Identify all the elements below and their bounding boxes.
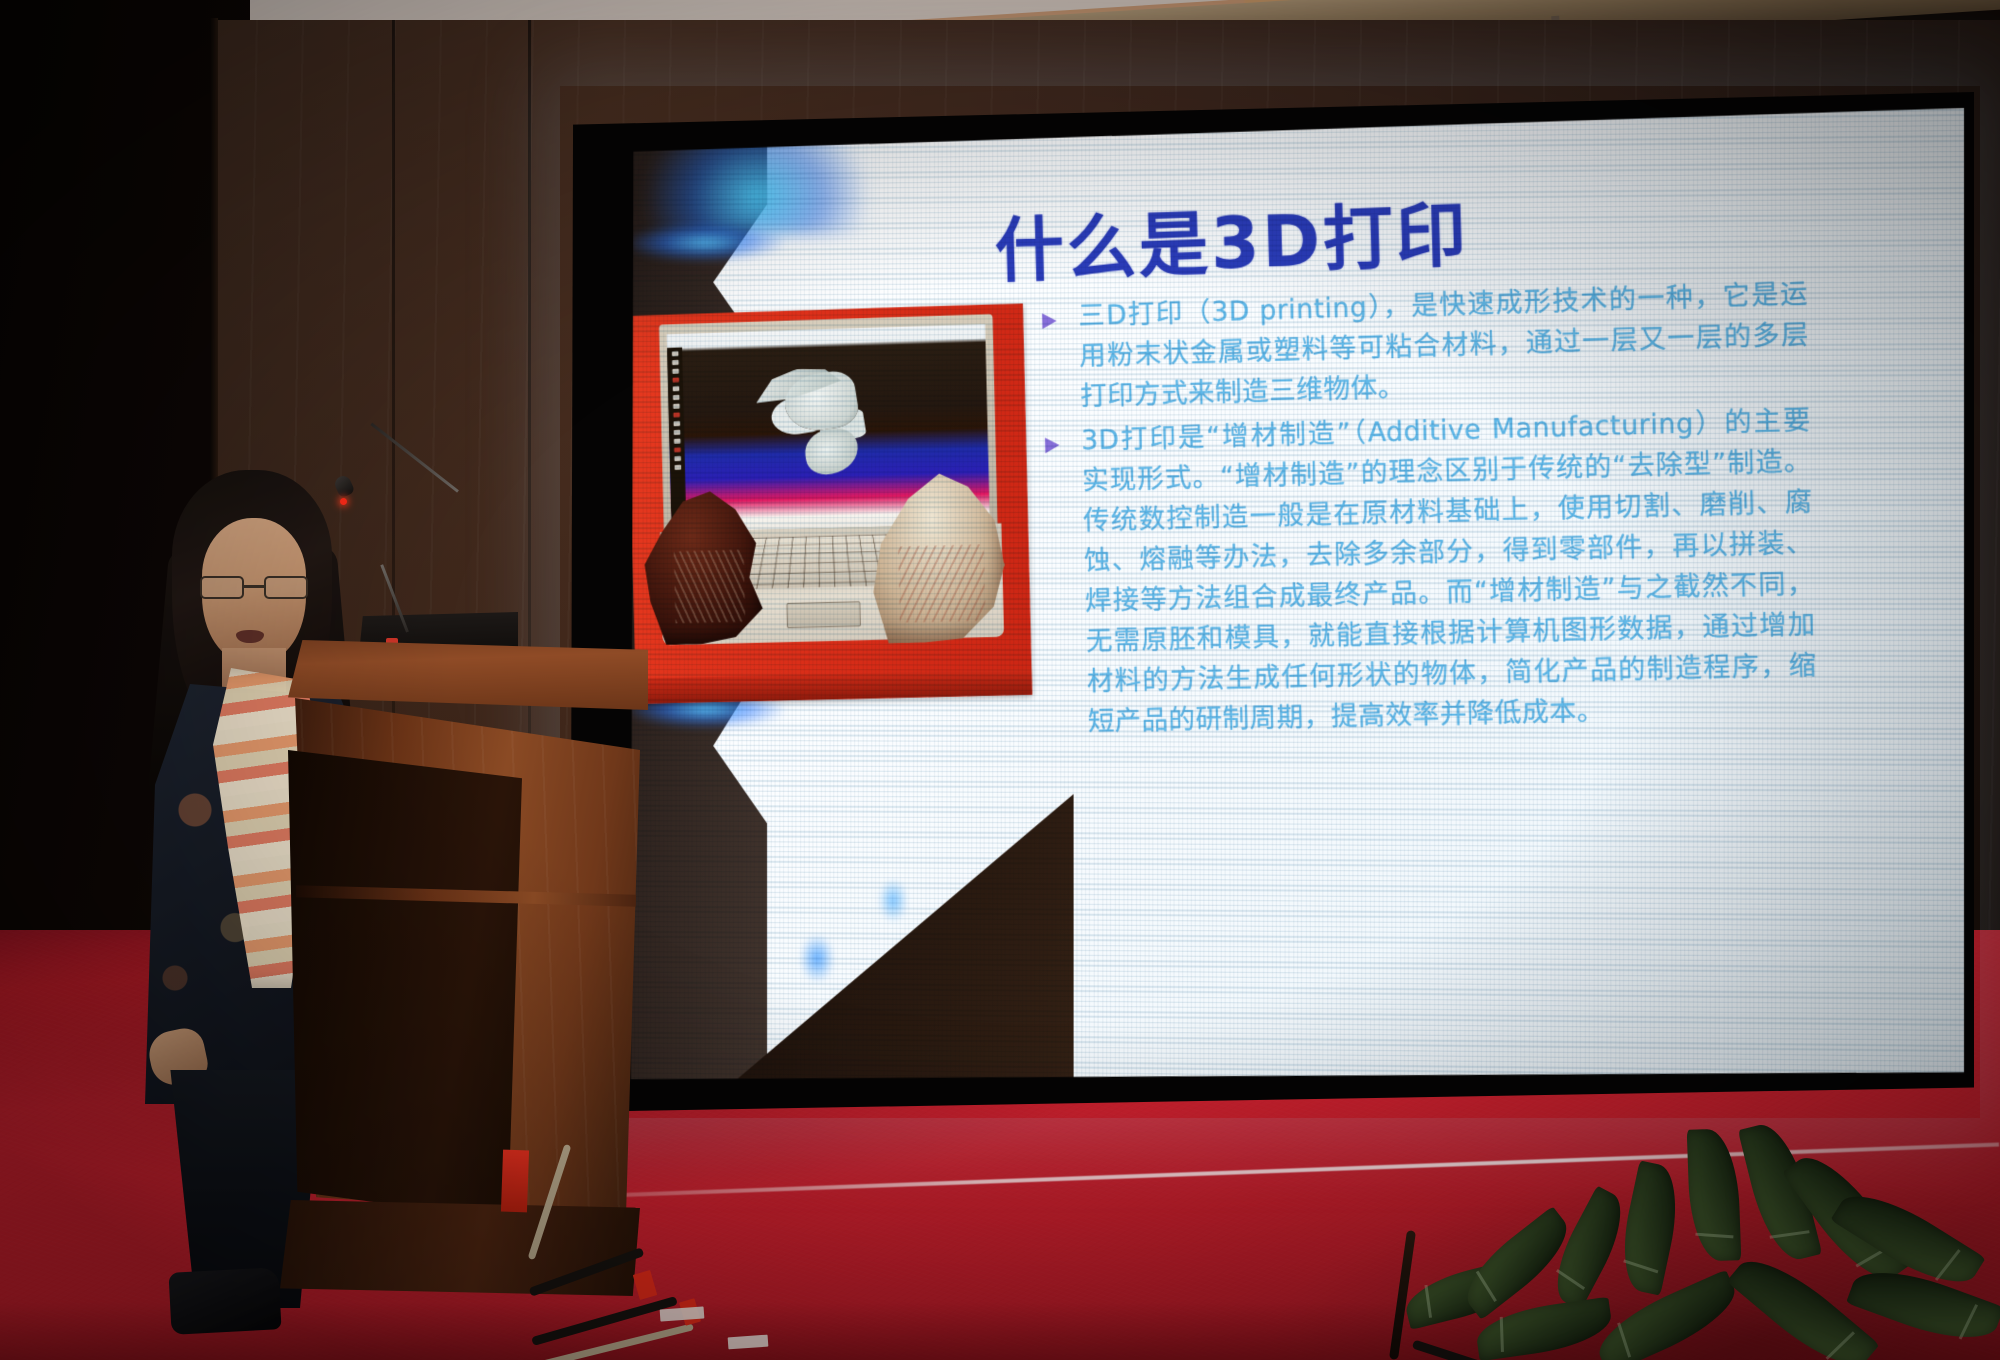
arrow-bullet-icon — [1045, 437, 1060, 453]
potted-plants — [1380, 1130, 2000, 1360]
software-toolbar — [667, 348, 686, 519]
arrow-bullet-icon — [1042, 313, 1057, 329]
red-tape-marker — [501, 1150, 529, 1213]
list-item: 3D打印是“增材制造”（Additive Manufacturing）的主要实现… — [1041, 400, 1818, 743]
presentation-scene: 什么是3D打印 — [0, 0, 2000, 1360]
glasses-bridge — [244, 585, 266, 588]
leaf — [1589, 1270, 1746, 1360]
microphone-led-indicator — [340, 498, 347, 505]
slide-bullet-list: 三D打印（3D printing），是快速成形技术的一种，它是运用粉末状金属或塑… — [1038, 274, 1818, 747]
lens-right — [264, 576, 308, 599]
slide-photo — [627, 303, 1032, 703]
dinosaur-skull-model — [749, 353, 893, 501]
plant-stem — [1389, 1230, 1416, 1360]
podium-front-panel — [288, 750, 522, 1220]
podium-top — [288, 640, 648, 710]
slide-bottom-triangle — [731, 793, 1073, 1088]
bullet-text: 3D打印是“增材制造”（Additive Manufacturing）的主要实现… — [1081, 400, 1818, 742]
lens-left — [200, 576, 244, 599]
photo-bottom-band — [635, 669, 1032, 703]
slide-canvas: 什么是3D打印 — [626, 104, 1964, 1098]
leaf — [1687, 1128, 1742, 1262]
led-screen[interactable]: 什么是3D打印 — [626, 104, 1964, 1098]
list-item: 三D打印（3D printing），是快速成形技术的一种，它是运用粉末状金属或塑… — [1038, 274, 1810, 418]
leaf — [1613, 1160, 1687, 1295]
bullet-text: 三D打印（3D printing），是快速成形技术的一种，它是运用粉末状金属或塑… — [1078, 274, 1810, 417]
eyeglasses-icon — [198, 576, 312, 600]
podium — [288, 640, 648, 1300]
podium-base — [280, 1200, 640, 1296]
laptop-trackpad — [786, 601, 861, 628]
skull-frill — [752, 362, 845, 419]
boot — [168, 1267, 281, 1335]
